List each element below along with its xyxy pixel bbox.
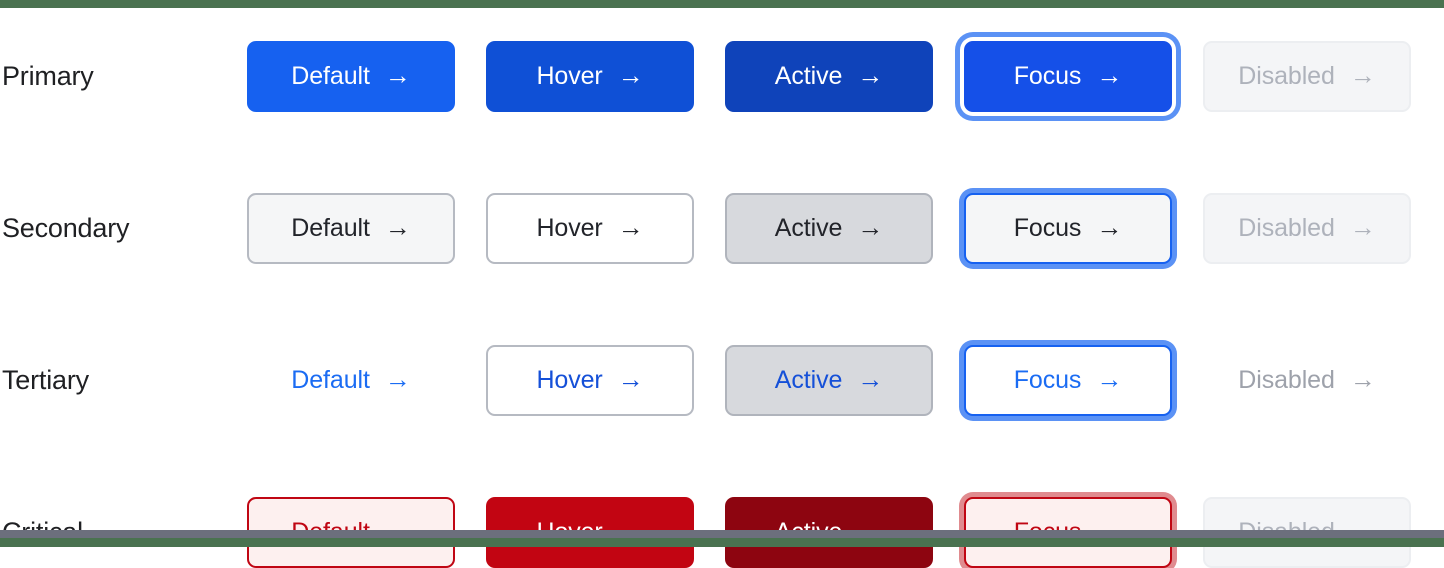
cell-primary-hover: Hover → bbox=[486, 41, 725, 112]
row-label-tertiary: Tertiary bbox=[0, 365, 247, 396]
arrow-right-icon: → bbox=[1096, 366, 1122, 392]
button-secondary-active[interactable]: Active → bbox=[725, 193, 933, 264]
button-primary-active[interactable]: Active → bbox=[725, 41, 933, 112]
cell-tertiary-hover: Hover → bbox=[486, 345, 725, 416]
cell-secondary-disabled: Disabled → bbox=[1203, 193, 1442, 264]
button-primary-disabled: Disabled → bbox=[1203, 41, 1411, 112]
button-tertiary-default[interactable]: Default → bbox=[247, 345, 455, 416]
viewport-scroll-shadow bbox=[0, 530, 1444, 538]
button-label: Hover bbox=[536, 366, 602, 395]
cell-tertiary-default: Default → bbox=[247, 345, 486, 416]
button-secondary-default[interactable]: Default → bbox=[247, 193, 455, 264]
button-label: Hover bbox=[536, 62, 602, 91]
viewport-top-strip bbox=[0, 0, 1444, 8]
row-label-primary: Primary bbox=[0, 61, 247, 92]
cell-primary-focus: Focus → bbox=[964, 41, 1203, 112]
button-secondary-disabled: Disabled → bbox=[1203, 193, 1411, 264]
arrow-right-icon: → bbox=[1350, 214, 1376, 240]
button-label: Default bbox=[291, 366, 370, 395]
arrow-right-icon: → bbox=[1096, 62, 1122, 88]
button-label: Active bbox=[775, 62, 842, 91]
arrow-right-icon: → bbox=[857, 214, 883, 240]
button-label: Default bbox=[291, 62, 370, 91]
button-label: Focus bbox=[1014, 366, 1082, 395]
button-label: Default bbox=[291, 214, 370, 243]
button-primary-default[interactable]: Default → bbox=[247, 41, 455, 112]
cell-primary-default: Default → bbox=[247, 41, 486, 112]
button-secondary-hover[interactable]: Hover → bbox=[486, 193, 694, 264]
button-label: Disabled bbox=[1238, 214, 1334, 243]
viewport-bottom-strip bbox=[0, 538, 1444, 547]
cell-tertiary-focus: Focus → bbox=[964, 345, 1203, 416]
button-tertiary-disabled: Disabled → bbox=[1203, 345, 1411, 416]
button-label: Active bbox=[775, 366, 842, 395]
arrow-right-icon: → bbox=[1350, 366, 1376, 392]
button-secondary-focus[interactable]: Focus → bbox=[964, 193, 1172, 264]
cell-tertiary-disabled: Disabled → bbox=[1203, 345, 1442, 416]
button-primary-hover[interactable]: Hover → bbox=[486, 41, 694, 112]
arrow-right-icon: → bbox=[1096, 214, 1122, 240]
button-label: Active bbox=[775, 214, 842, 243]
button-label: Hover bbox=[536, 214, 602, 243]
button-label: Disabled bbox=[1238, 366, 1334, 395]
cell-primary-disabled: Disabled → bbox=[1203, 41, 1442, 112]
arrow-right-icon: → bbox=[385, 214, 411, 240]
button-states-matrix: Primary Default → Hover → Active → Focus… bbox=[0, 0, 1444, 547]
arrow-right-icon: → bbox=[618, 214, 644, 240]
arrow-right-icon: → bbox=[618, 62, 644, 88]
arrow-right-icon: → bbox=[618, 366, 644, 392]
cell-secondary-default: Default → bbox=[247, 193, 486, 264]
arrow-right-icon: → bbox=[1350, 62, 1376, 88]
arrow-right-icon: → bbox=[385, 366, 411, 392]
row-label-secondary: Secondary bbox=[0, 213, 247, 244]
cell-secondary-active: Active → bbox=[725, 193, 964, 264]
button-label: Disabled bbox=[1238, 62, 1334, 91]
button-tertiary-hover[interactable]: Hover → bbox=[486, 345, 694, 416]
arrow-right-icon: → bbox=[857, 62, 883, 88]
button-tertiary-active[interactable]: Active → bbox=[725, 345, 933, 416]
button-label: Focus bbox=[1014, 214, 1082, 243]
button-label: Focus bbox=[1014, 62, 1082, 91]
button-primary-focus[interactable]: Focus → bbox=[964, 41, 1172, 112]
button-tertiary-focus[interactable]: Focus → bbox=[964, 345, 1172, 416]
arrow-right-icon: → bbox=[385, 62, 411, 88]
cell-secondary-focus: Focus → bbox=[964, 193, 1203, 264]
cell-tertiary-active: Active → bbox=[725, 345, 964, 416]
cell-secondary-hover: Hover → bbox=[486, 193, 725, 264]
arrow-right-icon: → bbox=[857, 366, 883, 392]
cell-primary-active: Active → bbox=[725, 41, 964, 112]
